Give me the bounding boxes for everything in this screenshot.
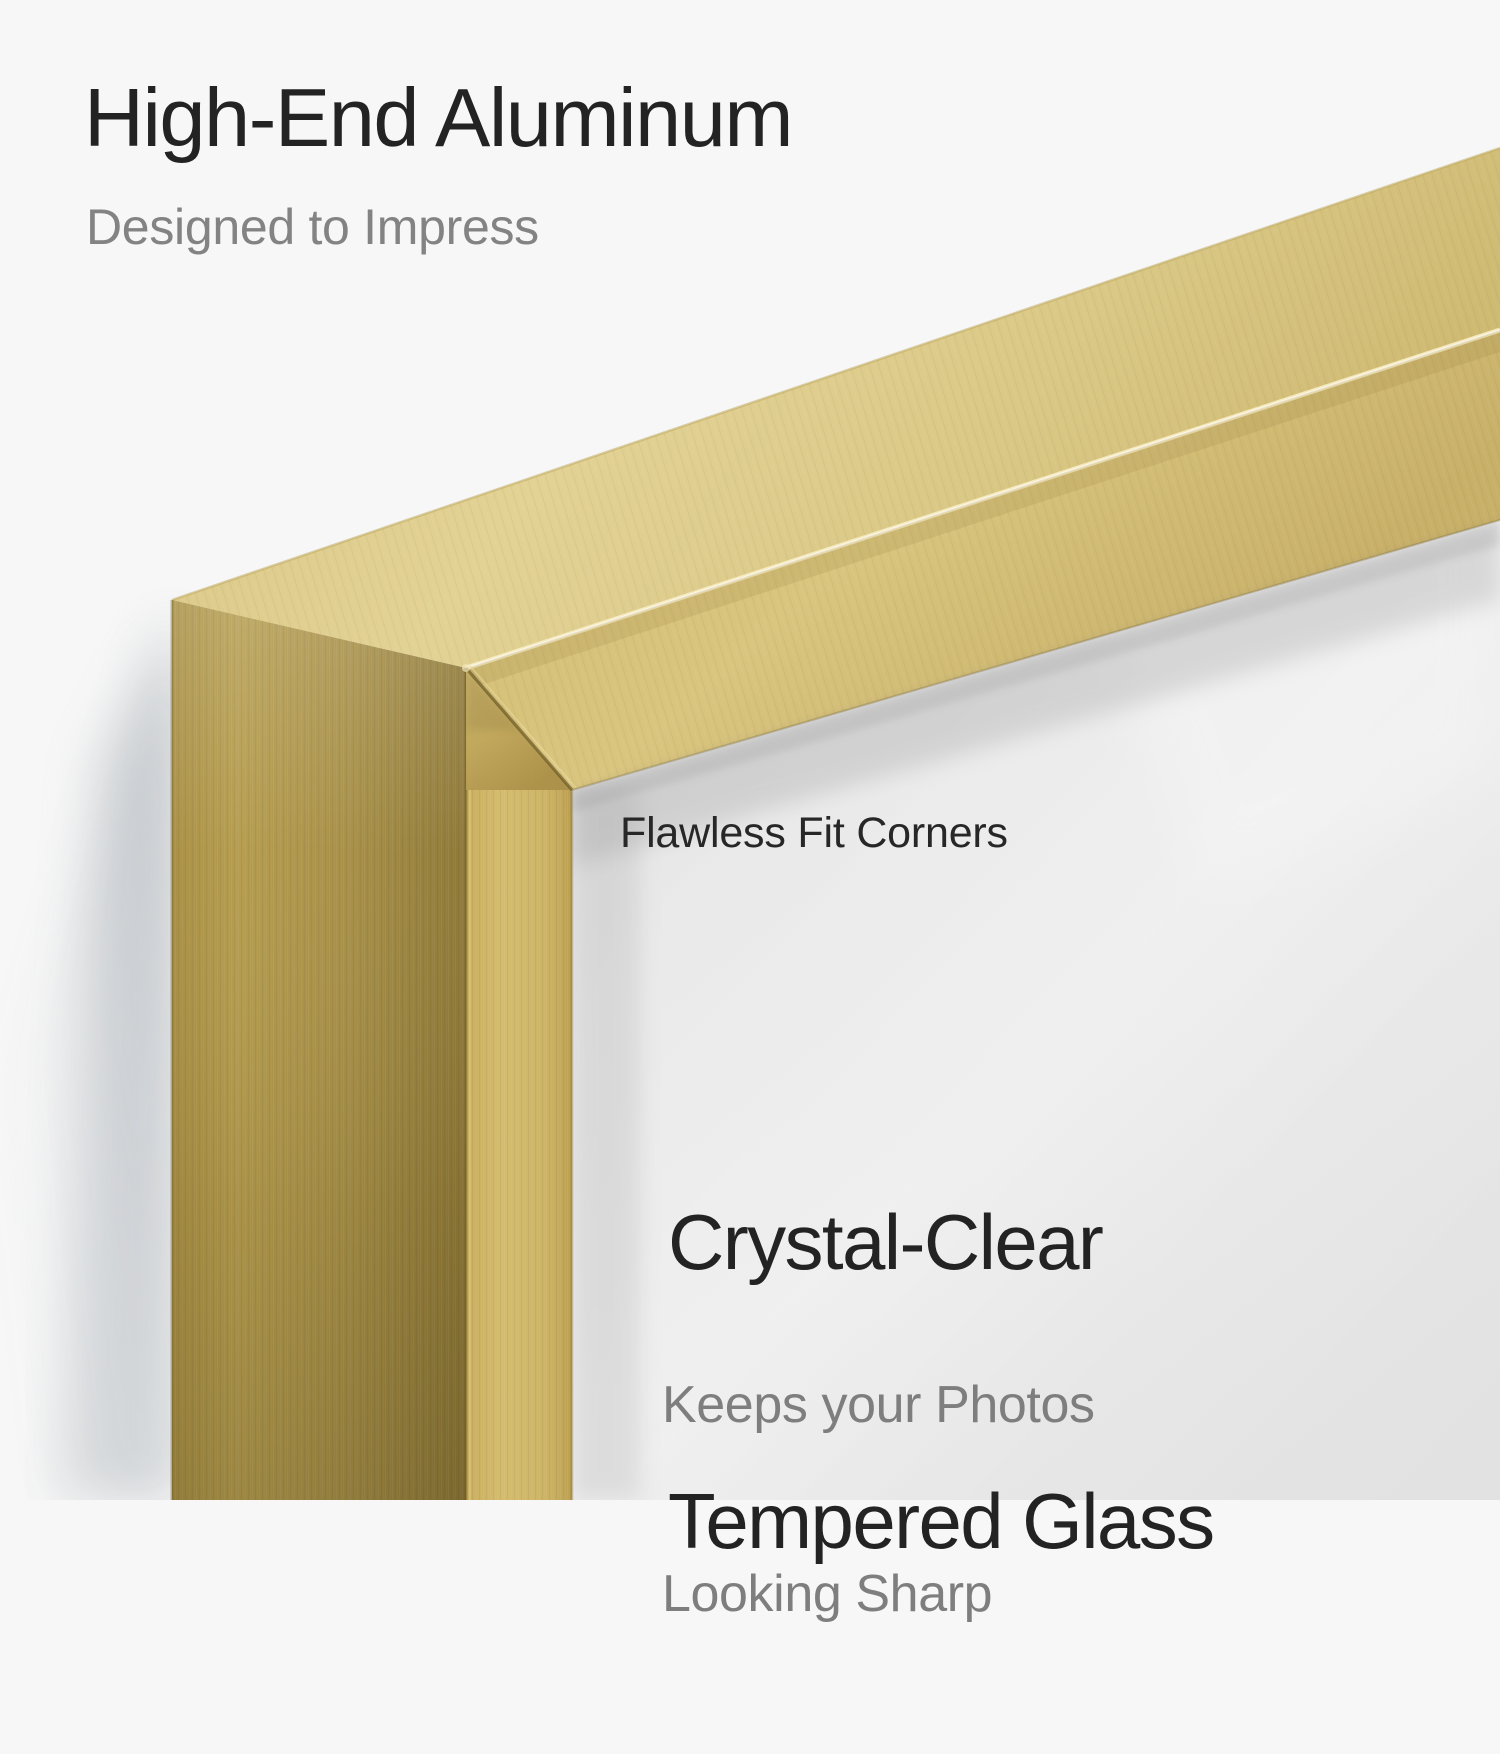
callout-glass-subtitle-line1: Keeps your Photos: [662, 1374, 1095, 1437]
product-feature-graphic: High-End Aluminum Designed to Impress Fl…: [0, 0, 1500, 1500]
page-subtitle: Designed to Impress: [86, 198, 539, 256]
callout-glass-subtitle-line2: Looking Sharp: [662, 1563, 1095, 1626]
page-title: High-End Aluminum: [84, 70, 792, 166]
callout-glass-subtitle: Keeps your Photos Looking Sharp: [662, 1248, 1095, 1752]
callout-flawless-fit-corners: Flawless Fit Corners: [620, 809, 1008, 858]
